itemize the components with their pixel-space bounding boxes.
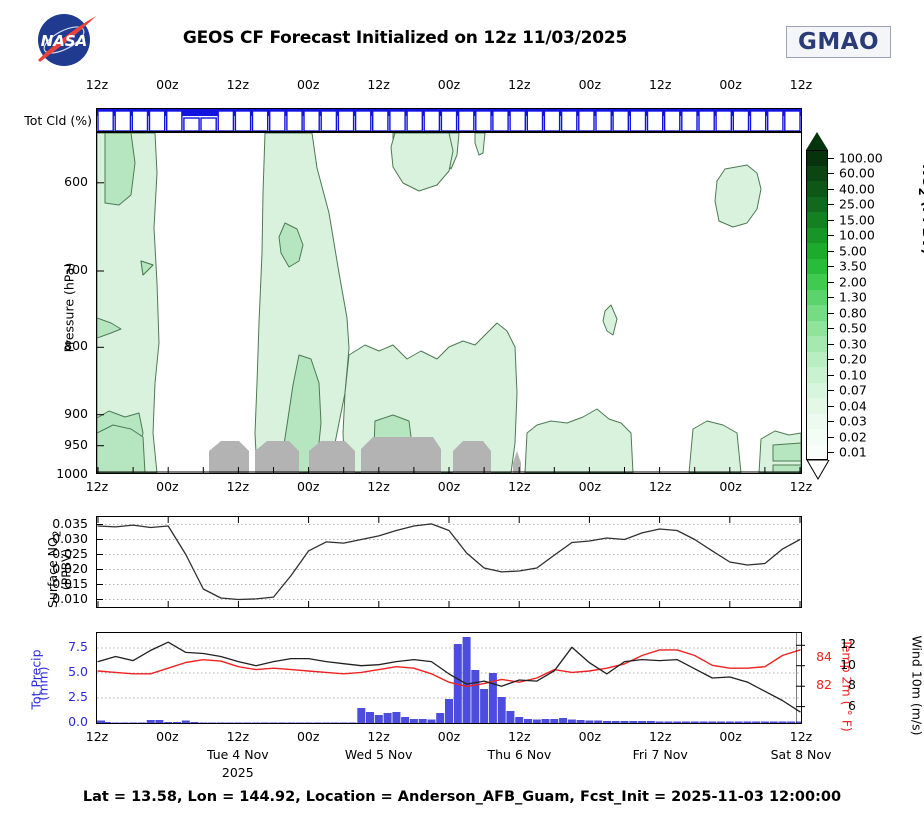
colorbar-tick-label: 15.00 (839, 212, 875, 227)
gmao-logo: GMAO (786, 26, 891, 58)
date-tick-label: Sat 8 Nov (749, 747, 853, 762)
time-tick-label: 00z (565, 77, 615, 92)
colorbar-tick-label: 0.02 (839, 429, 867, 444)
time-tick-label: 00z (142, 479, 192, 494)
colorbar-tick (828, 390, 834, 391)
precip-bar (217, 723, 225, 724)
cloud-segment (527, 111, 542, 131)
precip-bar (577, 720, 585, 723)
precip-bar (278, 723, 286, 724)
colorbar-title-main: NO (919, 164, 924, 188)
precip-bar (498, 697, 506, 723)
precip-bar (164, 722, 172, 723)
precip-bar (787, 722, 795, 724)
precip-bar (559, 718, 567, 723)
svg-text:NASA: NASA (41, 32, 88, 50)
surface-no2-tick-label: 0.030 (28, 531, 88, 546)
precip-bar (682, 722, 690, 724)
cloud-segment (287, 111, 302, 131)
colorbar-tick-label: 3.50 (839, 259, 867, 274)
colorbar-tick-label: 25.00 (839, 197, 875, 212)
precip-bar (647, 721, 655, 723)
colorbar-border (806, 150, 828, 460)
page-title: GEOS CF Forecast Initialized on 12z 11/0… (120, 28, 690, 48)
colorbar-tick (828, 344, 834, 345)
precip-bar (779, 722, 787, 724)
colorbar-tick (828, 452, 834, 453)
time-tick-label: 12z (776, 729, 826, 744)
time-tick-label: 00z (283, 479, 333, 494)
time-tick-label: 12z (213, 729, 263, 744)
precip-bar (691, 722, 699, 724)
colorbar-tick (828, 189, 834, 190)
no2-colorbar: 100.0060.0040.0025.0015.0010.005.003.502… (806, 150, 828, 460)
colorbar-tick-label: 40.00 (839, 181, 875, 196)
wind-tick-label: 10 (836, 657, 856, 672)
cloud-segment (167, 111, 182, 131)
cloud-segment (253, 111, 268, 131)
cloud-segment (338, 111, 353, 131)
cloud-segment (613, 111, 628, 131)
precip-bar (392, 712, 400, 723)
time-tick-label: 00z (706, 77, 756, 92)
precip-bar (761, 722, 769, 724)
colorbar-tick (828, 266, 834, 267)
colorbar-tick-label: 10.00 (839, 228, 875, 243)
cloud-segment (132, 111, 147, 131)
precip-bar (533, 720, 541, 724)
cloud-segment (304, 111, 319, 131)
precip-bar (129, 723, 137, 724)
colorbar-title-sub: 2 (916, 188, 924, 196)
precip-bar (506, 711, 514, 723)
colorbar-tick (828, 406, 834, 407)
surface-no2-tick-label: 0.010 (28, 591, 88, 606)
surface-no2-panel (96, 516, 802, 608)
precip-bar (138, 723, 146, 724)
time-tick-label: 12z (635, 729, 685, 744)
precip-bar (103, 722, 111, 723)
precip-bar (515, 717, 523, 723)
pressure-tick-label: 900 (38, 406, 88, 421)
colorbar-tick-label: 0.10 (839, 367, 867, 382)
cloud-segment (356, 111, 371, 131)
date-tick-year: 2025 (186, 765, 290, 780)
precip-tick-label: 7.5 (38, 639, 88, 654)
colorbar-tick (828, 158, 834, 159)
time-tick-label: 12z (354, 729, 404, 744)
colorbar-over-arrow-icon (806, 132, 828, 150)
right-axis-ticks (796, 632, 810, 724)
precip-bar (384, 713, 392, 723)
cloud-segment (218, 111, 233, 131)
precip-bar (147, 720, 155, 723)
precip-bar (226, 723, 234, 724)
colorbar-under-arrow-icon (806, 460, 830, 480)
cloud-segment (390, 111, 405, 131)
cloud-segment (201, 118, 216, 131)
time-tick-label: 00z (706, 479, 756, 494)
precip-bar (252, 723, 260, 724)
precip-bar (191, 722, 199, 723)
precip-bar (366, 712, 374, 723)
time-tick-label: 12z (213, 77, 263, 92)
colorbar-tick-label: 0.04 (839, 398, 867, 413)
colorbar-tick (828, 204, 834, 205)
cloud-segment (441, 111, 456, 131)
precip-bar (313, 723, 321, 724)
colorbar-tick (828, 313, 834, 314)
precip-bar (270, 723, 278, 724)
time-tick-label: 00z (424, 479, 474, 494)
cloud-segment (768, 111, 783, 131)
met-panel (96, 632, 802, 724)
cloud-segment (407, 111, 422, 131)
colorbar-tick-label: 5.00 (839, 243, 867, 258)
precip-bar (401, 717, 409, 723)
cloud-segment (562, 111, 577, 131)
precip-tick-label: 2.5 (38, 689, 88, 704)
precip-bar (120, 723, 128, 724)
colorbar-tick (828, 173, 834, 174)
time-tick-label: 12z (72, 479, 122, 494)
precip-bar (656, 722, 664, 724)
precip-bar (349, 723, 357, 724)
precip-bar (112, 723, 120, 724)
colorbar-tick-label: 0.07 (839, 383, 867, 398)
precip-bar (550, 719, 558, 723)
colorbar-tick-label: 0.30 (839, 336, 867, 351)
precip-bar (173, 722, 181, 723)
cloud-segment (373, 111, 388, 131)
colorbar-tick-label: 0.80 (839, 305, 867, 320)
cloud-segment (665, 111, 680, 131)
precip-tick-label: 5.0 (38, 664, 88, 679)
precip-bar (594, 721, 602, 724)
date-tick-label: Thu 6 Nov (467, 747, 571, 762)
forecast-figure: NASA GEOS CF Forecast Initialized on 12z… (0, 0, 924, 819)
cloud-segment (682, 111, 697, 131)
time-tick-label: 12z (776, 77, 826, 92)
precip-bar (743, 722, 751, 724)
colorbar-tick-label: 100.00 (839, 150, 883, 165)
precip-bar (603, 721, 611, 723)
precip-bar (208, 723, 216, 724)
wind-tick-label: 8 (836, 677, 856, 692)
precip-bar (261, 723, 269, 724)
colorbar-tick (828, 297, 834, 298)
precip-bar (155, 720, 163, 723)
cloud-segment (424, 111, 439, 131)
cloud-segment (510, 111, 525, 131)
colorbar-tick (828, 375, 834, 376)
precip-bar (296, 723, 304, 724)
colorbar-tick (828, 220, 834, 221)
precip-bar (340, 723, 348, 724)
precip-bar (752, 722, 760, 724)
time-tick-label: 00z (283, 77, 333, 92)
no2-cross-section-panel (96, 132, 802, 474)
colorbar-tick (828, 282, 834, 283)
surface-no2-tick-label: 0.035 (28, 516, 88, 531)
precip-bar (331, 723, 339, 724)
time-tick-label: 12z (213, 479, 263, 494)
cloud-segment (733, 111, 748, 131)
colorbar-tick-label: 0.01 (839, 445, 867, 460)
cloud-segment (699, 111, 714, 131)
cloud-segment (476, 111, 491, 131)
precip-bar (234, 723, 242, 724)
precip-bar (375, 715, 383, 723)
precip-bar (463, 637, 471, 723)
gmao-label: GMAO (798, 29, 879, 55)
precip-bar (717, 722, 725, 724)
cloud-segment (184, 118, 199, 131)
cloud-segment (630, 111, 645, 131)
surface-no2-tick-label: 0.020 (28, 561, 88, 576)
time-tick-label: 12z (494, 729, 544, 744)
time-tick-label: 00z (424, 729, 474, 744)
surface-no2-tick-label: 0.015 (28, 576, 88, 591)
precip-units-label: (mm) (36, 649, 51, 719)
precip-bar (243, 723, 251, 724)
pressure-tick-label: 700 (38, 262, 88, 277)
cloud-segment (544, 111, 559, 131)
precip-bar (182, 721, 190, 724)
precip-bar (664, 722, 672, 724)
time-tick-label: 12z (776, 479, 826, 494)
colorbar-tick (828, 437, 834, 438)
colorbar-title: NO2 (PPBV) (916, 164, 924, 255)
cloud-segment (98, 111, 113, 131)
precip-bar (471, 670, 479, 723)
cloud-segment (115, 111, 130, 131)
cloud-segment (785, 111, 800, 131)
cloud-segment (596, 111, 611, 131)
colorbar-tick (828, 235, 834, 236)
precip-bar (542, 719, 550, 723)
cloud-segment (648, 111, 663, 131)
wind-tick-label: 12 (836, 636, 856, 651)
precip-bar (357, 708, 365, 723)
colorbar-tick-label: 0.03 (839, 414, 867, 429)
wind-axis-label: Wind 10m (m/s) (910, 621, 924, 751)
precip-bar (585, 721, 593, 724)
precip-bar (612, 721, 620, 723)
cloud-segment (459, 111, 474, 131)
wind-tick-label: 6 (836, 698, 856, 713)
precip-bar (436, 713, 444, 723)
precip-bar (428, 720, 436, 724)
precip-bar (199, 723, 207, 724)
time-tick-label: 12z (494, 479, 544, 494)
time-tick-label: 00z (706, 729, 756, 744)
colorbar-tick-label: 2.00 (839, 274, 867, 289)
precip-bar (322, 723, 330, 724)
cloud-segment (321, 111, 336, 131)
time-tick-label: 12z (72, 729, 122, 744)
footer-metadata: Lat = 13.58, Lon = 144.92, Location = An… (0, 789, 924, 805)
time-tick-label: 00z (283, 729, 333, 744)
time-tick-label: 12z (635, 77, 685, 92)
date-tick-label: Wed 5 Nov (327, 747, 431, 762)
precip-bar (305, 723, 313, 724)
cloud-segment (270, 111, 285, 131)
precip-bar (287, 723, 295, 724)
precip-bar (524, 719, 532, 723)
precip-bar (621, 721, 629, 723)
pressure-tick-label: 950 (38, 437, 88, 452)
cloud-segment (150, 111, 165, 131)
time-tick-label: 00z (565, 479, 615, 494)
precip-bar (568, 720, 576, 724)
precip-bar (638, 721, 646, 723)
pressure-tick-label: 800 (38, 338, 88, 353)
time-tick-label: 00z (142, 77, 192, 92)
precip-bar (726, 722, 734, 724)
precip-bar (700, 722, 708, 724)
precip-bar (629, 721, 637, 723)
date-tick-label: Fri 7 Nov (608, 747, 712, 762)
time-tick-label: 12z (72, 77, 122, 92)
precip-bar (419, 719, 427, 723)
cloud-segment (493, 111, 508, 131)
cloud-axis-label: Tot Cld (%) (8, 113, 92, 128)
cloud-segment (716, 111, 731, 131)
colorbar-tick (828, 251, 834, 252)
cloud-segment (235, 111, 250, 131)
precip-bar (480, 689, 488, 723)
precip-bar (410, 719, 418, 723)
time-tick-label: 12z (494, 77, 544, 92)
time-tick-label: 00z (565, 729, 615, 744)
colorbar-tick-label: 0.50 (839, 321, 867, 336)
colorbar-title-units: (PPBV) (919, 196, 924, 255)
cloud-segment (751, 111, 766, 131)
colorbar-tick-label: 1.30 (839, 290, 867, 305)
colorbar-tick (828, 359, 834, 360)
total-cloud-panel (96, 108, 802, 132)
colorbar-tick-label: 0.20 (839, 352, 867, 367)
time-tick-label: 00z (424, 77, 474, 92)
precip-bar (445, 699, 453, 723)
colorbar-tick-label: 60.00 (839, 166, 875, 181)
colorbar-tick (828, 421, 834, 422)
precip-bar (770, 722, 778, 724)
date-tick-label: Tue 4 Nov (186, 747, 290, 762)
colorbar-tick (828, 328, 834, 329)
time-tick-label: 12z (354, 77, 404, 92)
nasa-logo-icon: NASA (34, 10, 100, 70)
precip-bar (735, 722, 743, 724)
pressure-tick-label: 600 (38, 174, 88, 189)
surface-no2-tick-label: 0.025 (28, 546, 88, 561)
time-tick-label: 00z (142, 729, 192, 744)
time-tick-label: 12z (635, 479, 685, 494)
time-tick-label: 12z (354, 479, 404, 494)
cloud-segment (579, 111, 594, 131)
precip-tick-label: 0.0 (38, 714, 88, 729)
precip-bar (673, 722, 681, 724)
precip-bar (708, 722, 716, 724)
